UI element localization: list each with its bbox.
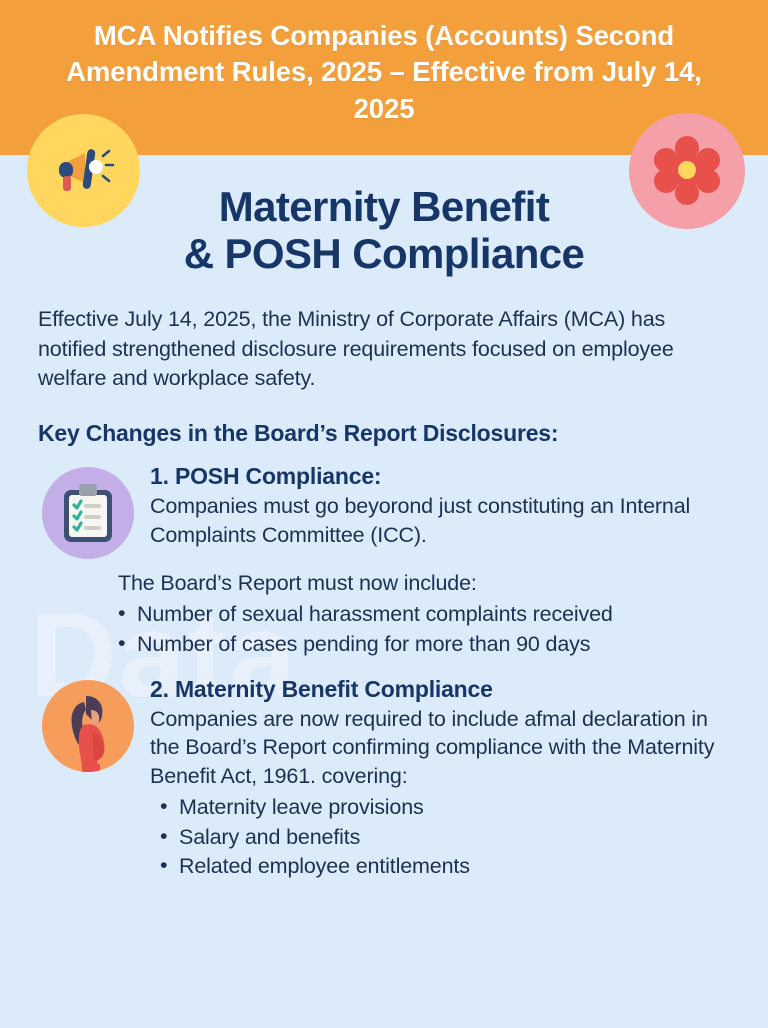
flower-icon	[651, 133, 723, 210]
megaphone-icon	[47, 131, 121, 210]
section-text-posh: Companies must go beyorond just constitu…	[150, 492, 730, 550]
posh-bullet-list: Number of sexual harassment complaints r…	[118, 600, 730, 659]
list-item: Maternity leave provisions	[160, 793, 730, 823]
posh-sublead: The Board’s Report must now include:	[118, 569, 730, 598]
section-body: 1. POSH Compliance: Companies must go be…	[138, 463, 730, 550]
section-title-posh: 1. POSH Compliance:	[150, 463, 730, 490]
maternity-bullet-list: Maternity leave provisions Salary and be…	[160, 793, 730, 882]
page-title-line-1: Maternity Benefit	[219, 183, 550, 230]
page-title-line-2: & POSH Compliance	[184, 230, 585, 277]
section-body: 2. Maternity Benefit Compliance Companie…	[138, 676, 730, 791]
section-icon-wrapper	[38, 676, 138, 772]
page-title: Maternity Benefit & POSH Compliance	[38, 183, 730, 277]
list-item: Salary and benefits	[160, 823, 730, 853]
section-icon-wrapper	[38, 463, 138, 559]
section-posh-compliance: 1. POSH Compliance: Companies must go be…	[38, 463, 730, 559]
list-item: Related employee entitlements	[160, 852, 730, 882]
section-text-maternity: Companies are now required to include af…	[150, 705, 730, 791]
flower-badge	[629, 113, 745, 229]
main-content: Maternity Benefit & POSH Compliance Effe…	[0, 183, 768, 882]
list-item: Number of sexual harassment complaints r…	[118, 600, 730, 630]
megaphone-badge	[27, 114, 140, 227]
section-maternity-benefit: 2. Maternity Benefit Compliance Companie…	[38, 676, 730, 791]
clipboard-checklist-icon	[42, 467, 134, 559]
section-title-maternity: 2. Maternity Benefit Compliance	[150, 676, 730, 703]
intro-paragraph: Effective July 14, 2025, the Ministry of…	[38, 305, 730, 393]
key-changes-heading: Key Changes in the Board’s Report Disclo…	[38, 420, 730, 447]
list-item: Number of cases pending for more than 90…	[118, 630, 730, 660]
header-title: MCA Notifies Companies (Accounts) Second…	[38, 18, 730, 127]
pregnant-woman-icon	[42, 680, 134, 772]
